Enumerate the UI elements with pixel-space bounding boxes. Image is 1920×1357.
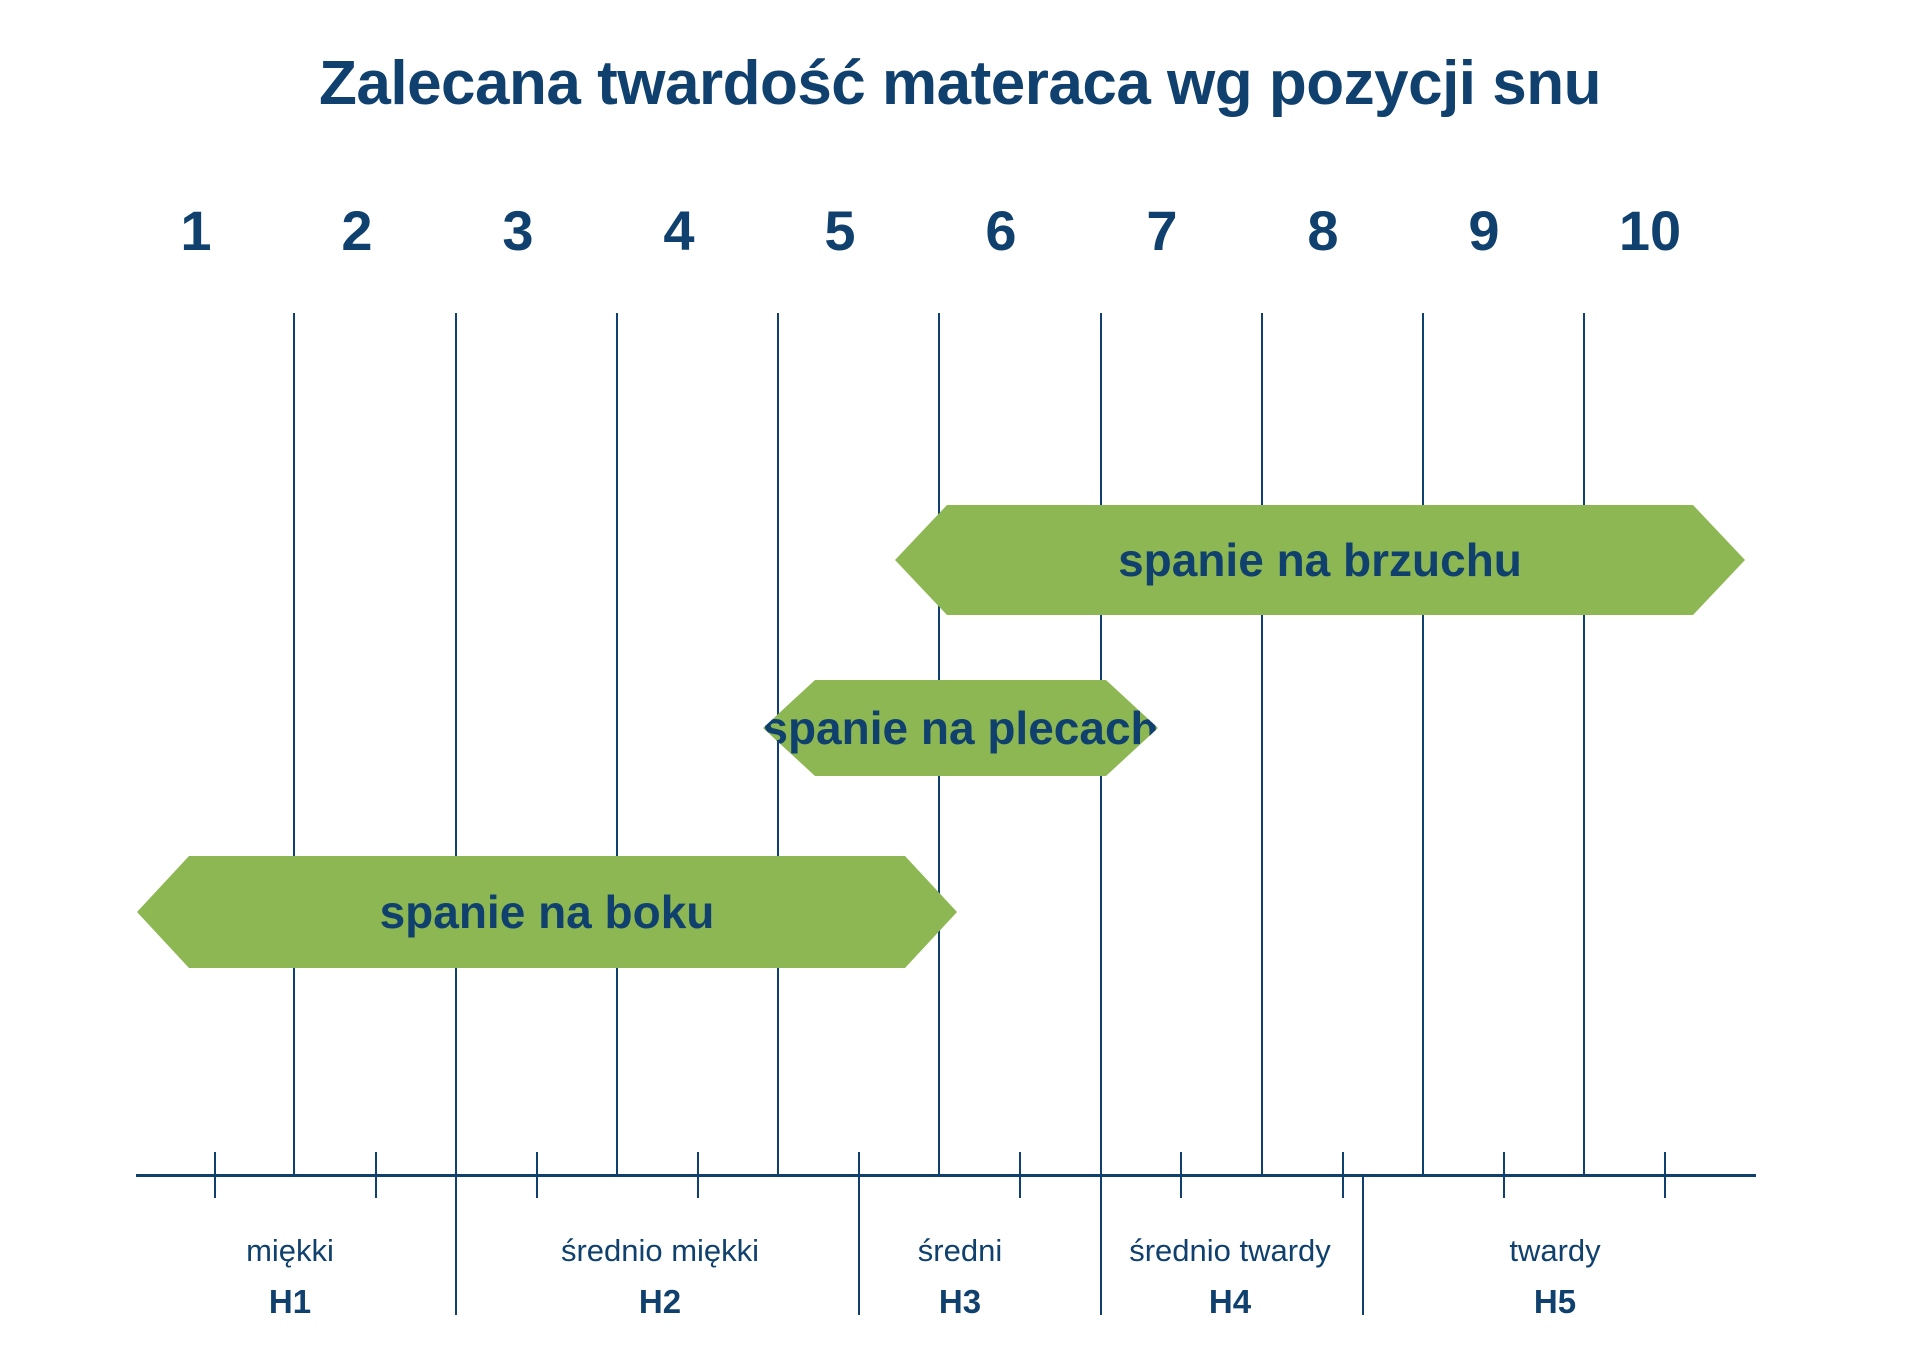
scale-tick-8: 8 [1268,203,1378,259]
scale-tick-10: 10 [1595,203,1705,259]
scale-tick-9: 9 [1429,203,1539,259]
range-bar-stomach-label: spanie na brzuchu [1118,533,1522,587]
hardness-name-h1: miękki [175,1233,405,1269]
hardness-separator-1 [455,1175,457,1315]
hardness-name-h4: średnio twardy [1110,1233,1350,1269]
gridline-2 [455,313,457,1175]
hardness-name-h3: średni [870,1233,1050,1269]
hardness-name-h5: twardy [1440,1233,1670,1269]
axis-tick-minor-9 [1503,1152,1505,1198]
gridline-8 [1422,313,1424,1175]
scale-tick-5: 5 [785,203,895,259]
hardness-name-h2: średnio miękki [540,1233,780,1269]
gridline-9 [1583,313,1585,1175]
range-bar-back-label: spanie na plecach [762,701,1158,755]
hardness-code-h2: H2 [540,1283,780,1321]
scale-tick-2: 2 [302,203,412,259]
axis-tick-minor-3 [536,1152,538,1198]
range-bar-side-label: spanie na boku [380,885,715,939]
hardness-group-h3: średni H3 [870,1233,1050,1321]
hardness-separator-3 [1100,1175,1102,1315]
hardness-code-h5: H5 [1440,1283,1670,1321]
scale-tick-1: 1 [141,203,251,259]
scale-tick-6: 6 [946,203,1056,259]
gridline-7 [1261,313,1263,1175]
axis-tick-minor-4 [697,1152,699,1198]
hardness-separator-2 [858,1175,860,1315]
axis-tick-minor-7 [1180,1152,1182,1198]
scale-tick-4: 4 [624,203,734,259]
hardness-separator-4 [1362,1175,1364,1315]
hardness-code-h3: H3 [870,1283,1050,1321]
range-bar-back[interactable]: spanie na plecach [763,680,1158,776]
axis-tick-minor-10 [1664,1152,1666,1198]
axis-baseline [136,1174,1756,1177]
hardness-code-h1: H1 [175,1283,405,1321]
page-title: Zalecana twardość materaca wg pozycji sn… [0,48,1920,119]
hardness-group-h4: średnio twardy H4 [1110,1233,1350,1321]
range-bar-side[interactable]: spanie na boku [137,856,957,968]
gridline-3 [616,313,618,1175]
axis-tick-minor-1 [214,1152,216,1198]
axis-tick-minor-2 [375,1152,377,1198]
axis-tick-minor-8 [1342,1152,1344,1198]
scale-tick-3: 3 [463,203,573,259]
scale-tick-7: 7 [1107,203,1217,259]
hardness-group-h2: średnio miękki H2 [540,1233,780,1321]
hardness-code-h4: H4 [1110,1283,1350,1321]
gridline-4 [777,313,779,1175]
axis-tick-minor-6 [1019,1152,1021,1198]
range-bar-stomach[interactable]: spanie na brzuchu [895,505,1745,615]
gridline-1 [293,313,295,1175]
hardness-group-h5: twardy H5 [1440,1233,1670,1321]
hardness-group-h1: miękki H1 [175,1233,405,1321]
infographic-canvas: Zalecana twardość materaca wg pozycji sn… [0,0,1920,1357]
